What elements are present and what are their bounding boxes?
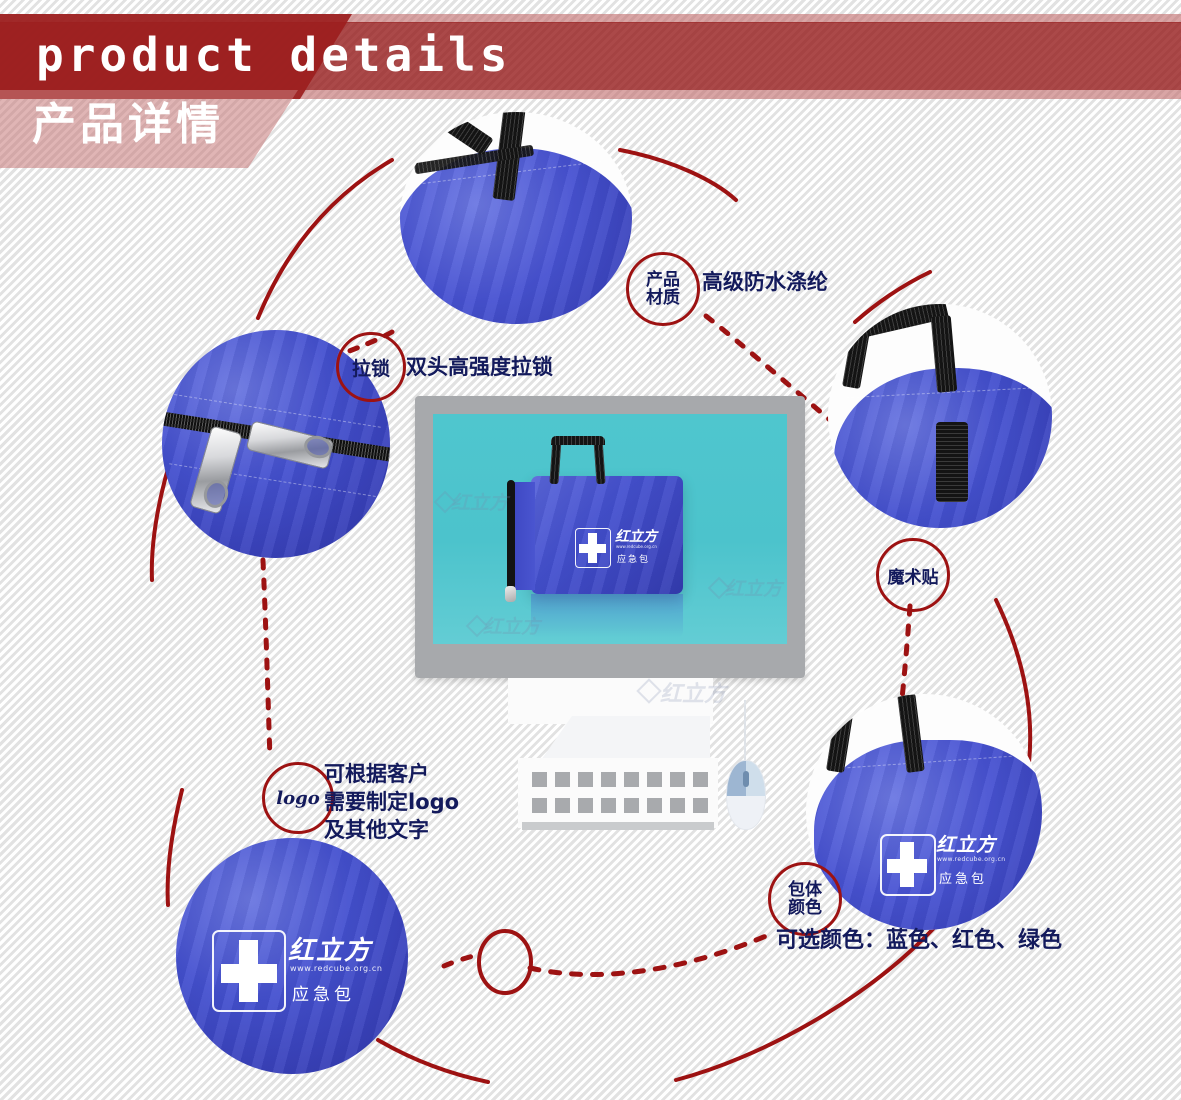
hero-product-bag: 红立方 www.redcube.org.cn 应急包 [531, 476, 683, 594]
brand-product: 应急包 [939, 868, 987, 887]
arc-top-right [620, 150, 736, 200]
dash-logo-leader [262, 540, 270, 758]
brand-url: www.redcube.org.cn [937, 856, 1005, 863]
callout-body-color-line1: 包体 [788, 881, 822, 899]
callout-logo-line1: 可根据客户 [324, 760, 459, 788]
brand-product: 应急包 [617, 552, 650, 565]
monitor-screen: 红立方 www.redcube.org.cn 应急包 红立方 红立方 红立方 [433, 414, 787, 644]
velcro-tab [936, 422, 968, 502]
connector-node-circle [479, 931, 531, 993]
monitor-display: 红立方 www.redcube.org.cn 应急包 红立方 红立方 红立方 [415, 396, 805, 678]
callout-zipper-description: 双头高强度拉锁 [406, 351, 553, 381]
dash-center-left [444, 954, 482, 966]
brand-name: 红立方 [288, 930, 372, 967]
product-reflection [531, 594, 683, 638]
mouse [726, 760, 766, 830]
callout-logo-line3: 及其他文字 [324, 816, 459, 844]
callout-material[interactable]: 产品 材质 [626, 252, 700, 326]
keyboard-base [522, 822, 714, 830]
mouse-scroll-wheel [743, 771, 749, 787]
medical-cross-icon [880, 834, 936, 896]
handle-strap-top [551, 436, 605, 445]
brand-product: 应急包 [292, 980, 355, 1005]
keyboard [518, 758, 718, 828]
callout-logo-label: logo [276, 788, 319, 809]
brand-url: www.redcube.org.cn [290, 964, 383, 973]
watermark: 红立方 [660, 676, 726, 708]
mouse-cord [744, 700, 746, 762]
dash-center-right [530, 936, 766, 975]
callout-material-line1: 产品 [646, 271, 680, 289]
callout-body-color-description: 可选颜色：蓝色、红色、绿色 [776, 922, 1062, 954]
arc-top-left [258, 160, 392, 318]
watermark: 红立方 [451, 488, 508, 515]
brand-name: 红立方 [615, 526, 657, 546]
photo-top-material [400, 112, 632, 324]
page-title-cn: 产品详情 [32, 94, 224, 156]
callout-zipper[interactable]: 拉锁 [336, 332, 406, 402]
brand-name: 红立方 [936, 830, 996, 857]
callout-logo-description: 可根据客户 需要制定logo 及其他文字 [324, 760, 459, 844]
callout-velcro-label: 魔术贴 [888, 563, 939, 588]
callout-body-color-line2: 颜色 [788, 899, 822, 917]
infographic-canvas: product details 产品详情 [0, 0, 1181, 1100]
photo-bottom-left-logo: 红立方 www.redcube.org.cn 应急包 [176, 838, 408, 1074]
callout-zipper-label: 拉锁 [352, 354, 390, 381]
watermark: 红立方 [483, 612, 540, 639]
brand-url: www.redcube.org.cn [616, 544, 657, 549]
watermark: 红立方 [725, 574, 782, 601]
callout-material-line2: 材质 [646, 289, 680, 307]
callout-logo-line2: 需要制定logo [324, 788, 459, 816]
callout-velcro[interactable]: 魔术贴 [876, 538, 950, 612]
callout-material-description: 高级防水涤纶 [702, 266, 828, 296]
medical-cross-icon [212, 930, 286, 1012]
page-title-en: product details [36, 24, 511, 86]
photo-right-velcro [828, 304, 1052, 528]
